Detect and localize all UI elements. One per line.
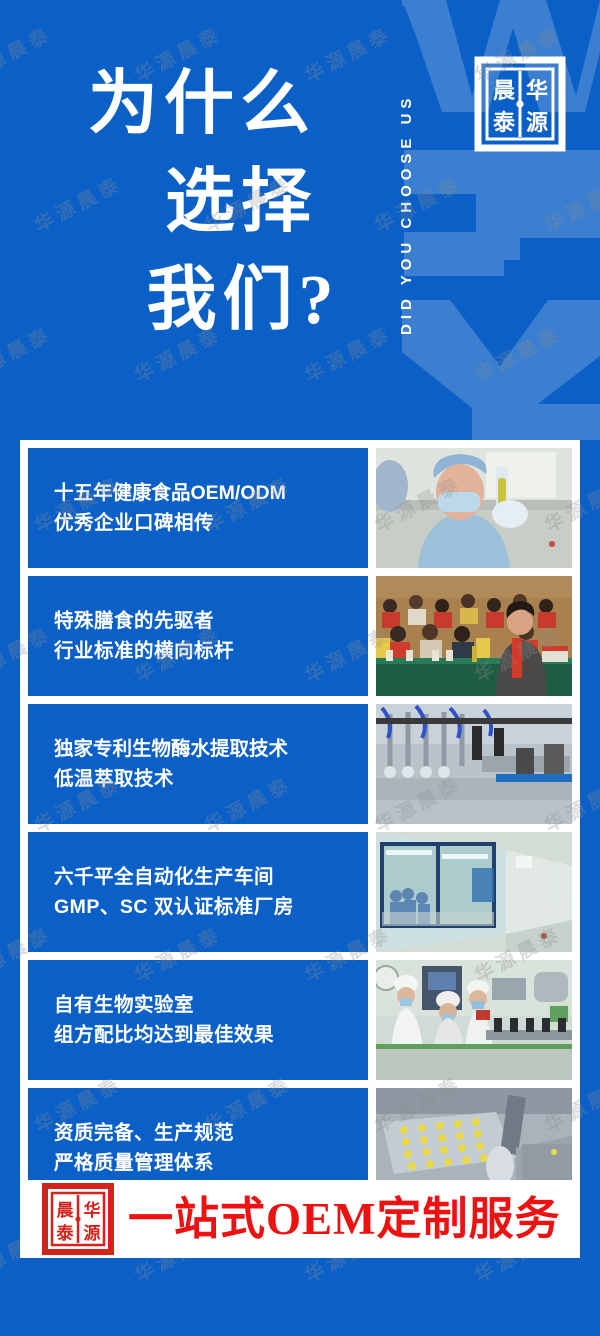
svg-text:泰: 泰 xyxy=(57,1223,75,1243)
feature-photo-filling-machine xyxy=(376,704,572,824)
feature-photo-bottling-line-workers xyxy=(376,960,572,1080)
title-line-1: 为什么 xyxy=(88,56,388,154)
feature-photo-conference-hall xyxy=(376,576,572,696)
feature-line-2: 严格质量管理体系 xyxy=(54,1148,368,1178)
feature-line-2: 组方配比均达到最佳效果 xyxy=(54,1020,368,1050)
footer-headline: 一站式OEM定制服务 xyxy=(128,1197,561,1242)
feature-photo-lab-technician xyxy=(376,448,572,568)
footer-banner: 晨 泰 华 源 一站式OEM定制服务 xyxy=(20,1180,580,1258)
svg-text:晨: 晨 xyxy=(493,78,516,103)
header: 为什么 选择 我们? DID YOU CHOOSE US 晨 泰 华 源 xyxy=(0,0,600,440)
feature-line-1: 独家专利生物酶水提取技术 xyxy=(54,734,368,764)
feature-line-1: 资质完备、生产规范 xyxy=(54,1118,368,1148)
list-item[interactable]: 十五年健康食品OEM/ODM 优秀企业口碑相传 xyxy=(28,448,572,568)
svg-text:泰: 泰 xyxy=(492,110,516,135)
vertical-tagline: DID YOU CHOOSE US xyxy=(398,26,424,402)
title-line-3: 我们? xyxy=(88,252,388,350)
title-line-2: 选择 xyxy=(88,154,388,252)
feature-card[interactable]: 十五年健康食品OEM/ODM 优秀企业口碑相传 xyxy=(28,448,368,568)
feature-line-1: 特殊膳食的先驱者 xyxy=(54,606,368,636)
feature-frame: 十五年健康食品OEM/ODM 优秀企业口碑相传 xyxy=(20,440,580,1250)
feature-card[interactable]: 六千平全自动化生产车间 GMP、SC 双认证标准厂房 xyxy=(28,832,368,952)
svg-text:源: 源 xyxy=(526,110,548,135)
feature-line-1: 自有生物实验室 xyxy=(54,990,368,1020)
list-item[interactable]: 独家专利生物酶水提取技术 低温萃取技术 xyxy=(28,704,572,824)
feature-line-2: 优秀企业口碑相传 xyxy=(54,508,368,538)
feature-list: 十五年健康食品OEM/ODM 优秀企业口碑相传 xyxy=(28,448,572,1208)
list-item[interactable]: 六千平全自动化生产车间 GMP、SC 双认证标准厂房 xyxy=(28,832,572,952)
feature-card[interactable]: 独家专利生物酶水提取技术 低温萃取技术 xyxy=(28,704,368,824)
feature-line-2: 低温萃取技术 xyxy=(54,764,368,794)
feature-line-1: 十五年健康食品OEM/ODM xyxy=(54,478,368,508)
brand-seal-red-icon: 晨 泰 华 源 xyxy=(42,1183,114,1255)
svg-text:华: 华 xyxy=(526,78,548,103)
svg-text:源: 源 xyxy=(84,1223,101,1243)
feature-line-2: GMP、SC 双认证标准厂房 xyxy=(54,892,368,922)
feature-line-1: 六千平全自动化生产车间 xyxy=(54,862,368,892)
feature-line-2: 行业标准的横向标杆 xyxy=(54,636,368,666)
list-item[interactable]: 自有生物实验室 组方配比均达到最佳效果 xyxy=(28,960,572,1080)
poster-root: 为什么 选择 我们? DID YOU CHOOSE US 晨 泰 华 源 xyxy=(0,0,600,1336)
feature-card[interactable]: 特殊膳食的先驱者 行业标准的横向标杆 xyxy=(28,576,368,696)
svg-text:华: 华 xyxy=(84,1200,101,1220)
page-title: 为什么 选择 我们? xyxy=(88,56,388,350)
brand-seal-icon: 晨 泰 华 源 xyxy=(474,54,566,154)
feature-card[interactable]: 自有生物实验室 组方配比均达到最佳效果 xyxy=(28,960,368,1080)
feature-photo-cleanroom-corridor xyxy=(376,832,572,952)
list-item[interactable]: 特殊膳食的先驱者 行业标准的横向标杆 xyxy=(28,576,572,696)
svg-text:晨: 晨 xyxy=(57,1201,75,1220)
